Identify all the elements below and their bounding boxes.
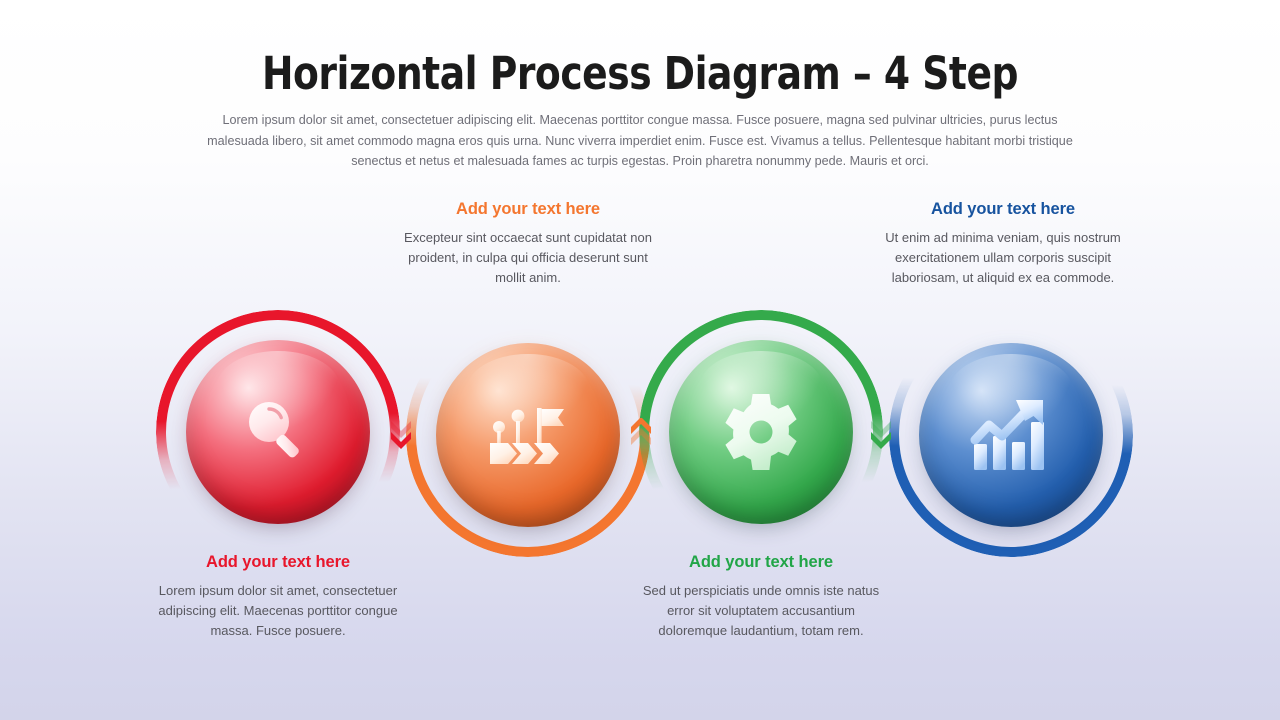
process-step-4[interactable] — [861, 285, 1161, 585]
connector-3 — [869, 418, 893, 452]
step-4-circle[interactable] — [919, 343, 1103, 527]
step-4-heading: Add your text here — [878, 199, 1128, 219]
step-1-heading: Add your text here — [153, 552, 403, 572]
step-3-text: Add your text here Sed ut perspiciatis u… — [636, 552, 886, 640]
step-4-text: Add your text here Ut enim ad minima ven… — [878, 199, 1128, 287]
double-chevron-down-icon — [869, 418, 893, 452]
connector-1 — [389, 418, 413, 452]
step-3-body: Sed ut perspiciatis unde omnis iste natu… — [636, 581, 886, 640]
step-2-body: Excepteur sint occaecat sunt cupidatat n… — [403, 228, 653, 287]
connector-2 — [629, 418, 653, 452]
process-diagram: Add your text here Lorem ipsum dolor sit… — [0, 0, 1280, 720]
step-2-circle[interactable] — [436, 343, 620, 527]
gear-icon — [719, 390, 803, 474]
growth-chart-icon — [969, 396, 1053, 474]
magnifier-icon — [235, 389, 321, 475]
step-2-text: Add your text here Excepteur sint occaec… — [403, 199, 653, 287]
step-4-body: Ut enim ad minima veniam, quis nostrum e… — [878, 228, 1128, 287]
double-chevron-up-icon — [629, 418, 653, 452]
step-3-circle[interactable] — [669, 340, 853, 524]
step-1-text: Add your text here Lorem ipsum dolor sit… — [153, 552, 403, 640]
step-1-circle[interactable] — [186, 340, 370, 524]
step-1-body: Lorem ipsum dolor sit amet, consectetuer… — [153, 581, 403, 640]
step-3-heading: Add your text here — [636, 552, 886, 572]
double-chevron-down-icon — [389, 418, 413, 452]
milestone-flag-icon — [488, 398, 568, 472]
step-2-heading: Add your text here — [403, 199, 653, 219]
